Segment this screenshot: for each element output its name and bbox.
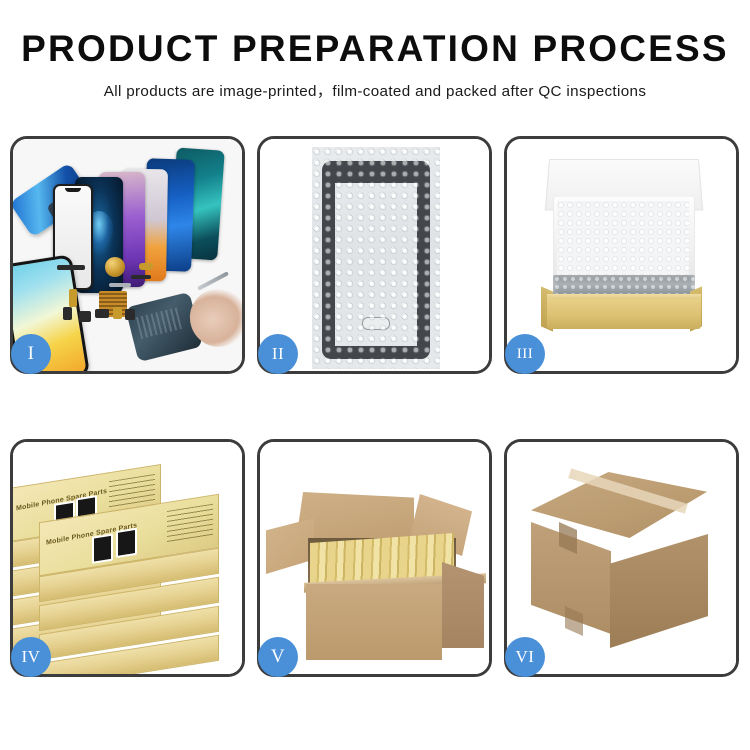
wrapped-screen-icon — [322, 161, 430, 359]
process-step-panel-2[interactable]: II — [257, 136, 492, 374]
flex-cable-part-icon — [131, 275, 151, 279]
box-stack-front: Mobile Phone Spare Parts — [39, 508, 219, 674]
step-1-image — [13, 139, 242, 371]
step-badge-4: IV — [11, 637, 51, 677]
notch-icon — [65, 188, 81, 192]
foam-padding-icon — [557, 201, 689, 275]
carton-front-icon — [306, 584, 442, 660]
bubble-wrap-sheet-icon — [312, 147, 440, 369]
process-step-grid: I II III — [10, 136, 740, 677]
box-thumbnail-icon — [92, 534, 113, 564]
step-2-image — [260, 139, 489, 371]
gold-coil-part-icon — [105, 257, 125, 277]
earpiece-part-icon — [57, 265, 85, 270]
step-5-image — [260, 442, 489, 674]
process-step-panel-3[interactable]: III — [504, 136, 739, 374]
step-badge-3: III — [505, 334, 545, 374]
step-badge-2: II — [258, 334, 298, 374]
process-step-panel-5[interactable]: V — [257, 439, 492, 677]
step-4-image: Mobile Phone Spare Parts Mobile Phone Sp… — [13, 442, 242, 674]
page-subtitle: All products are image-printed，film-coat… — [0, 79, 750, 101]
page-header: PRODUCT PREPARATION PROCESS All products… — [0, 0, 750, 101]
step-badge-6: VI — [505, 637, 545, 677]
process-step-panel-1[interactable]: I — [10, 136, 245, 374]
sim-tray-part-icon — [63, 307, 72, 320]
speaker-part-icon — [79, 311, 91, 322]
vibrator-part-icon — [125, 309, 135, 320]
gold-bracket-part-icon — [113, 307, 122, 319]
page-title: PRODUCT PREPARATION PROCESS — [0, 30, 750, 69]
box-thumbnail-icon — [116, 528, 137, 558]
box-front-panel-icon — [547, 299, 701, 329]
camera-part-icon — [95, 309, 109, 318]
process-step-panel-4[interactable]: Mobile Phone Spare Parts Mobile Phone Sp… — [10, 439, 245, 677]
home-button-icon — [362, 317, 390, 330]
flex-strip-part-icon — [69, 289, 77, 307]
step-badge-5: V — [258, 637, 298, 677]
carton-right-side-icon — [442, 562, 484, 648]
process-step-panel-6[interactable]: VI — [504, 439, 739, 677]
step-3-image — [507, 139, 736, 371]
step-6-image — [507, 442, 736, 674]
metal-bracket-part-icon — [109, 283, 131, 287]
gold-flex-part-icon — [139, 263, 153, 270]
step-badge-1: I — [11, 334, 51, 374]
box-spec-lines-icon — [167, 504, 213, 543]
